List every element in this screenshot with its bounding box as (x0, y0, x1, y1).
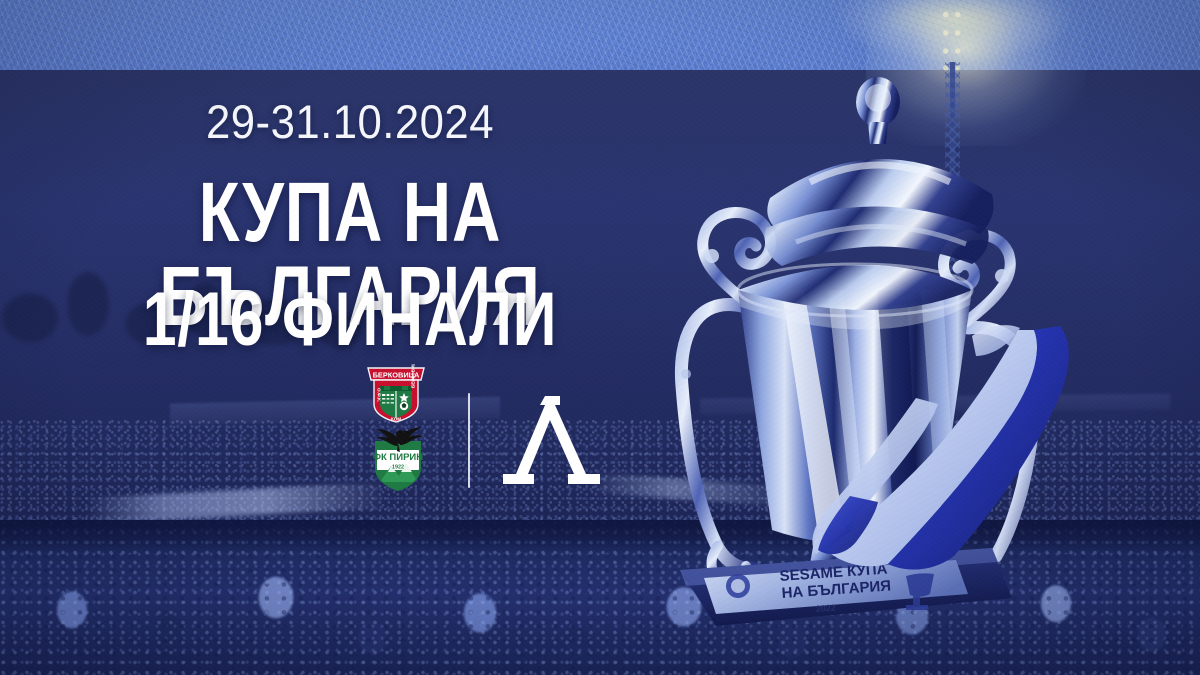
grass-texture (0, 0, 1200, 70)
berkovitsa-crest[interactable]: БЕРКОВИЦА (360, 364, 432, 426)
round-stage-label: 1/16 ФИНАЛИ (70, 282, 630, 358)
svg-text:БЕРКОВИЦА: БЕРКОВИЦА (411, 364, 416, 388)
pirin-crest[interactable]: ФК ПИРИН 1922 (358, 420, 438, 494)
matchup-divider (468, 393, 470, 488)
pylon-lamp-head (940, 2, 966, 72)
levski-lambda-mark[interactable] (500, 394, 604, 486)
home-crest-column: БЕРКОВИЦА (352, 362, 460, 497)
pirin-founded-year: 1922 (392, 465, 404, 471)
bulgarian-cup-trophy: SESAME КУПА НА БЪЛГАРИЯ 2022 (620, 78, 1090, 638)
cup-draw-poster: SESAME КУПА НА БЪЛГАРИЯ 2022 (0, 0, 1200, 675)
plaque-year: 2022 (815, 603, 836, 614)
stadium-pitch-band (0, 0, 1200, 70)
svg-text:О.Ф.К.: О.Ф.К. (376, 388, 381, 402)
matchup-crests: БЕРКОВИЦА (352, 362, 632, 497)
match-date-range: 29-31.10.2024 (25, 98, 676, 145)
pirin-club-text: ФК ПИРИН (373, 452, 423, 463)
trophy-lid (765, 159, 994, 266)
trophy-finial (856, 77, 900, 144)
